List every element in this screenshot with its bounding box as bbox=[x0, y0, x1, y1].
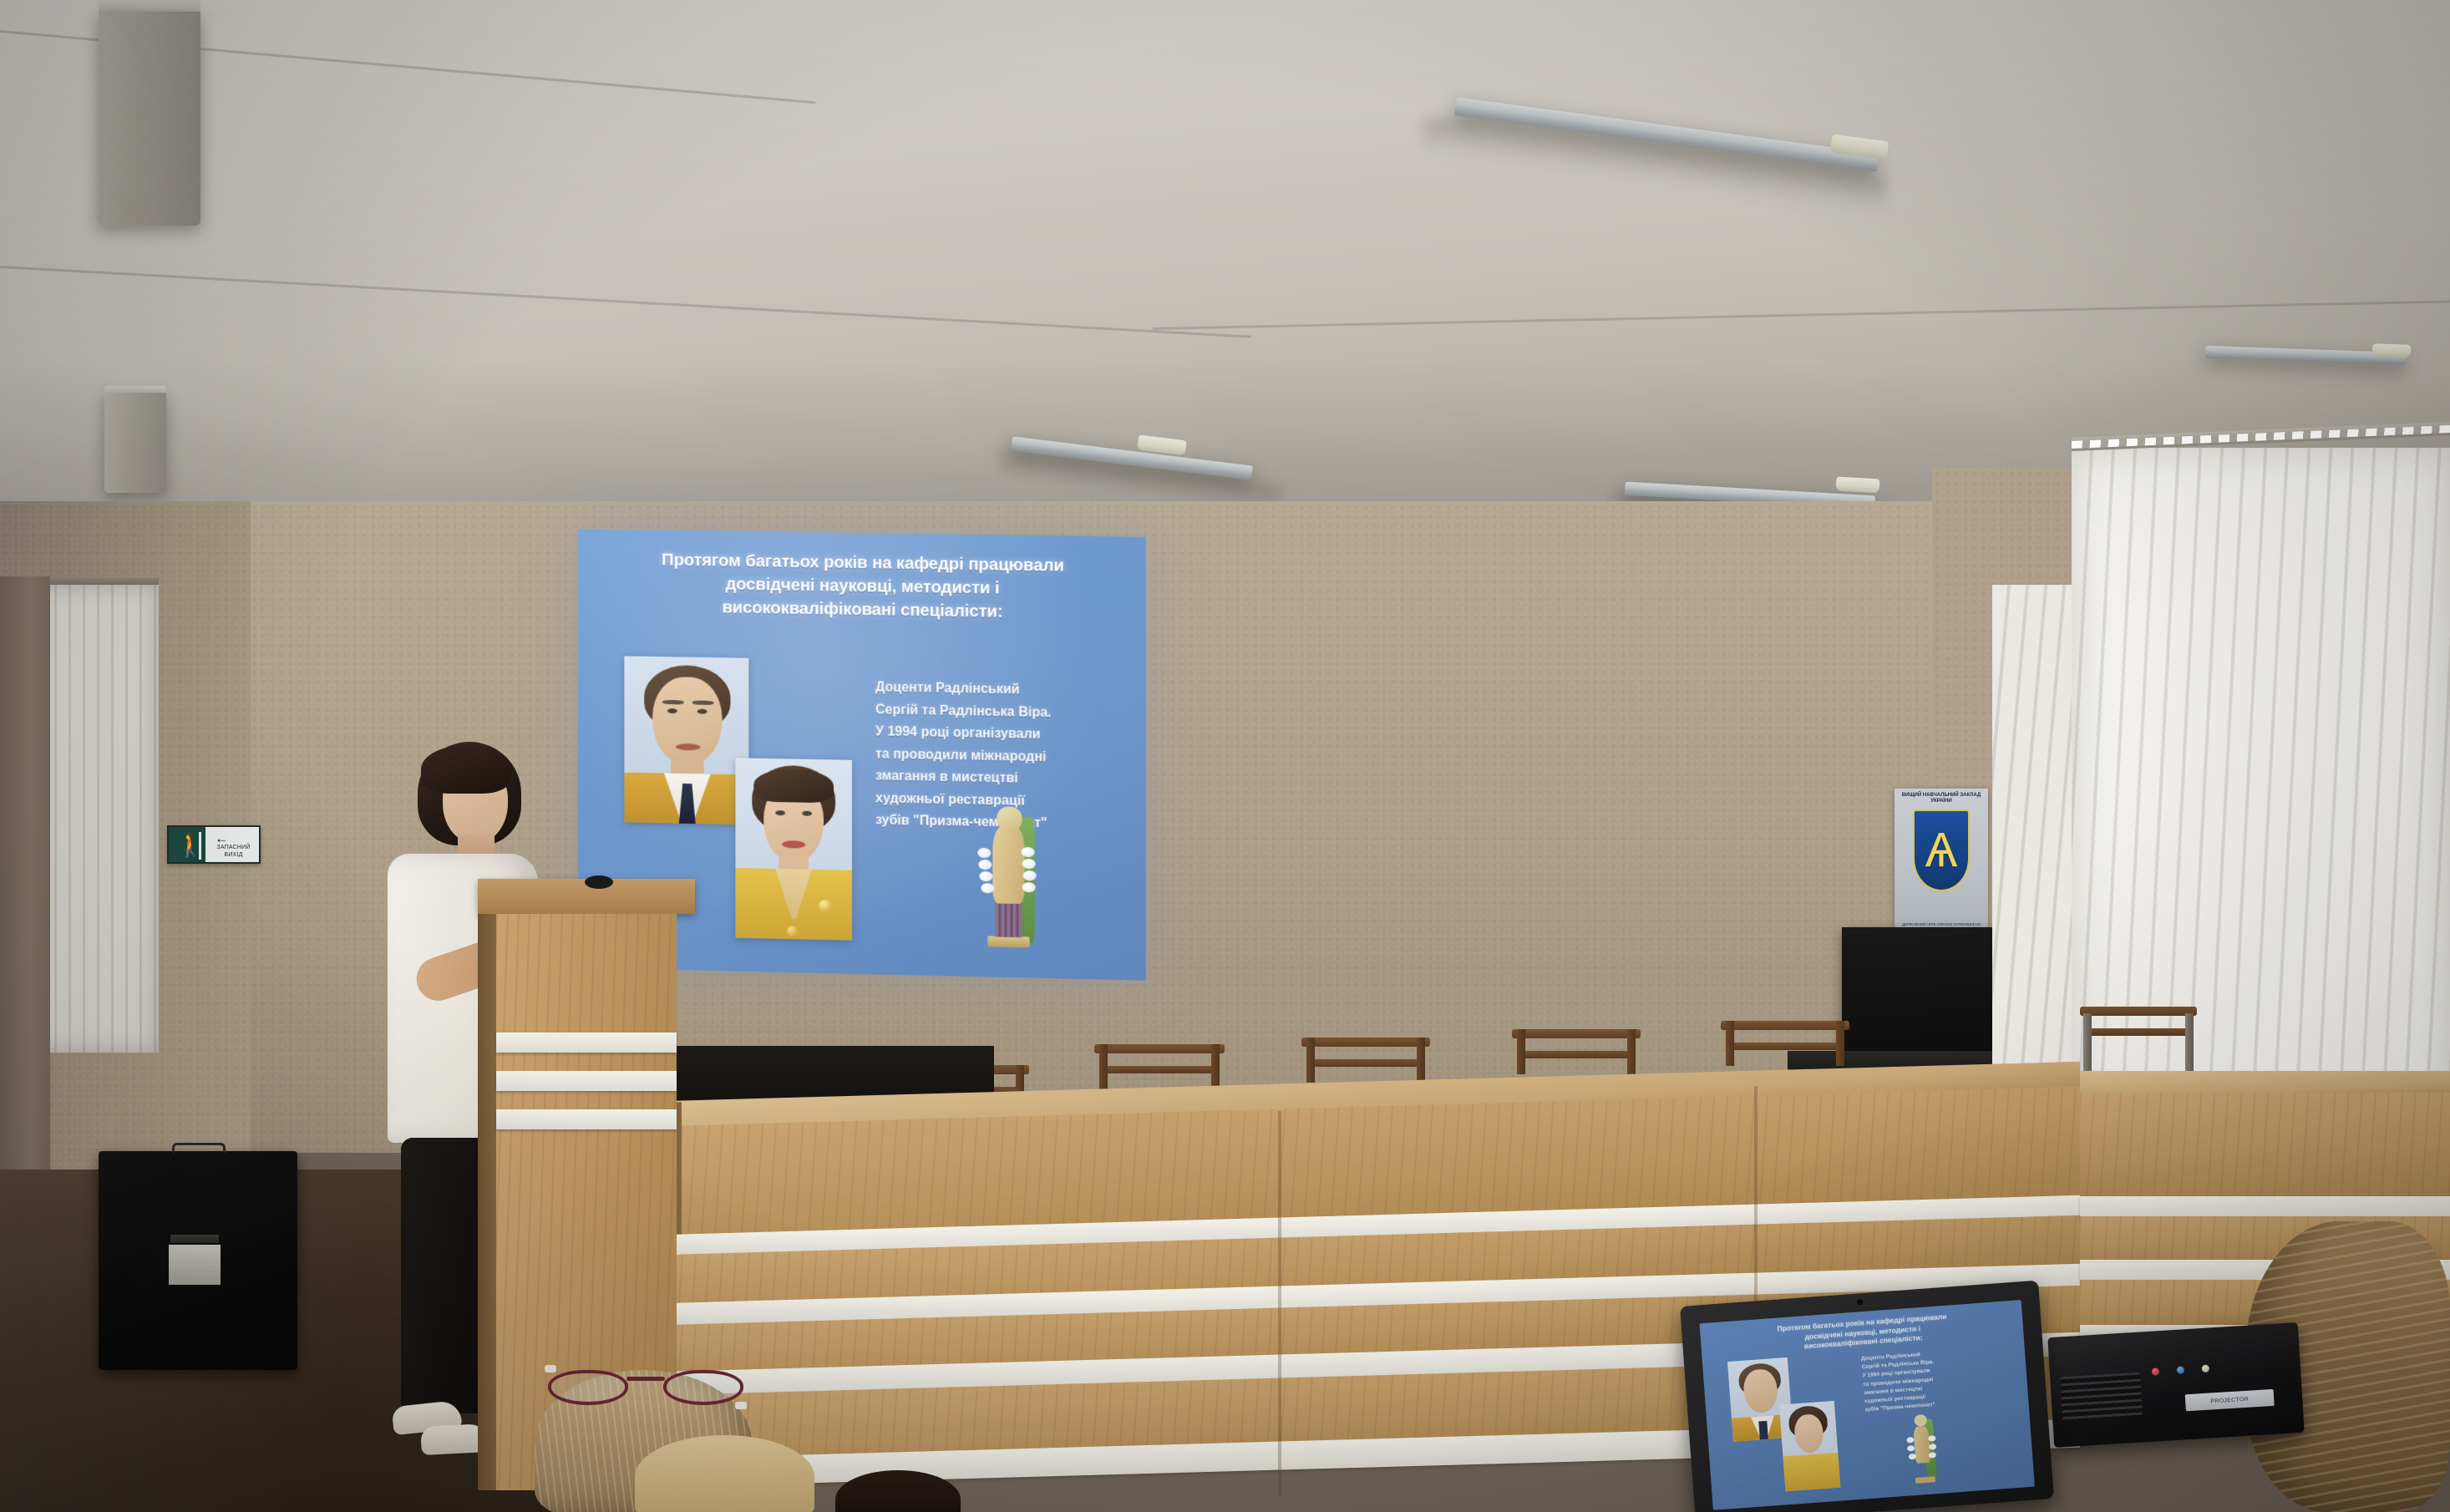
chair-leg bbox=[1099, 1044, 1108, 1089]
portrait-photo-woman bbox=[735, 758, 852, 941]
chair-leg bbox=[1627, 1029, 1636, 1074]
slide-title: Протягом багатьох років на кафедрі працю… bbox=[596, 547, 1131, 626]
desk-seam bbox=[1278, 1111, 1281, 1495]
laptop[interactable]: Протягом багатьох років на кафедрі працю… bbox=[1680, 1281, 2054, 1512]
video-projector: PROJECTOR bbox=[2047, 1322, 2304, 1448]
portrait-eye bbox=[667, 708, 677, 713]
tooth-icon bbox=[1023, 870, 1037, 880]
chair-backrest-mid bbox=[1728, 1043, 1842, 1050]
trophy-body bbox=[992, 826, 1024, 904]
chair-backrest-mid bbox=[2087, 1028, 2189, 1036]
chair-backrest-top bbox=[1721, 1021, 1849, 1030]
portrait-face bbox=[652, 677, 722, 766]
laptop-screen: Протягом багатьох років на кафедрі працю… bbox=[1700, 1300, 2035, 1510]
microphone[interactable] bbox=[585, 875, 613, 889]
case-handle[interactable] bbox=[172, 1143, 226, 1153]
chair-leg bbox=[1726, 1021, 1734, 1066]
chair-backrest-mid bbox=[1102, 1066, 1216, 1073]
portrait-eye bbox=[697, 709, 708, 714]
eyeglasses bbox=[545, 1365, 745, 1417]
ukraine-emblem-plaque: ВИЩИЙ НАВЧАЛЬНИЙ ЗАКЛАД УКРАЇНИ Ѧ ДЕРЖАВ… bbox=[1895, 789, 1988, 936]
exit-label-line2: ВИХІД bbox=[211, 852, 256, 859]
portrait-brooch bbox=[819, 900, 832, 911]
emergency-exit-sign: 🚶 ← ЗАПАСНИЙ ВИХІД bbox=[167, 825, 261, 864]
left-column bbox=[0, 576, 50, 1195]
exit-door-icon bbox=[199, 832, 201, 860]
ceiling-light-cap bbox=[2372, 343, 2412, 358]
chair-leg bbox=[1211, 1044, 1220, 1089]
portrait-brow bbox=[662, 700, 684, 704]
emblem-shield: Ѧ bbox=[1913, 809, 1970, 891]
tooth-icon bbox=[1022, 882, 1036, 892]
chair-leg bbox=[1306, 1038, 1315, 1083]
portrait-eye bbox=[802, 811, 812, 816]
chair-leg bbox=[1417, 1038, 1425, 1083]
portrait-photo-man bbox=[624, 656, 748, 824]
window-blinds-inner[interactable] bbox=[1992, 585, 2084, 1069]
trophy-base bbox=[987, 936, 1029, 947]
podium-stripe bbox=[496, 1109, 677, 1129]
chair-backrest-top bbox=[2080, 1007, 2197, 1016]
case-label bbox=[169, 1245, 221, 1285]
portrait-eye bbox=[775, 810, 785, 815]
trophy-figurine-graphic bbox=[976, 804, 1041, 948]
desk-row bbox=[2080, 1093, 2450, 1201]
podium-stripe bbox=[496, 1033, 677, 1053]
laptop-slide-body: Доценти Радлінський Сергій та Радлінська… bbox=[1861, 1347, 1984, 1415]
chair-backrest-mid bbox=[1309, 1059, 1423, 1067]
portrait-jacket bbox=[1783, 1453, 1840, 1492]
trophy-base bbox=[1915, 1476, 1935, 1484]
chair-leg bbox=[1517, 1029, 1525, 1074]
chair-leg bbox=[1836, 1021, 1844, 1066]
lecture-hall-photo: 🚶 ← ЗАПАСНИЙ ВИХІД Протягом багатьох рок… bbox=[0, 0, 2450, 1512]
tooth-icon bbox=[977, 848, 991, 858]
glasses-bridge bbox=[626, 1377, 665, 1381]
tooth-icon bbox=[1022, 847, 1035, 857]
tooth-icon bbox=[1929, 1444, 1936, 1450]
case-badge bbox=[170, 1235, 219, 1243]
exit-label-line1: ЗАПАСНИЙ bbox=[211, 845, 256, 851]
projector-label: PROJECTOR bbox=[2185, 1389, 2275, 1411]
tooth-icon bbox=[1022, 859, 1036, 869]
ceiling-speaker-box bbox=[99, 12, 200, 226]
presenter-hair-front bbox=[421, 745, 511, 794]
tooth-icon bbox=[978, 860, 992, 870]
ceiling-light-cap bbox=[1836, 477, 1880, 494]
desk-white-strip bbox=[2080, 1196, 2450, 1218]
equipment-case bbox=[99, 1151, 297, 1370]
glasses-temple-tip bbox=[735, 1402, 747, 1409]
projector-lamp-led bbox=[2202, 1365, 2210, 1373]
chair-backrest-mid bbox=[1519, 1051, 1633, 1058]
emblem-header-text: ВИЩИЙ НАВЧАЛЬНИЙ ЗАКЛАД УКРАЇНИ bbox=[1899, 793, 1984, 804]
glasses-temple-tip bbox=[545, 1365, 556, 1372]
running-person-icon: 🚶 bbox=[176, 833, 193, 860]
tooth-icon bbox=[1928, 1435, 1935, 1442]
glasses-lens bbox=[663, 1370, 743, 1405]
chair-backrest-top bbox=[1094, 1044, 1225, 1053]
arrow-left-icon: ← bbox=[215, 831, 229, 845]
trophy-head bbox=[997, 806, 1022, 830]
portrait-tie bbox=[1758, 1421, 1768, 1440]
exit-green-panel: 🚶 bbox=[169, 827, 205, 862]
laptop-trophy-graphic bbox=[1904, 1413, 1940, 1484]
portrait-fringe bbox=[753, 769, 834, 804]
chair-backrest-top bbox=[1301, 1038, 1430, 1047]
portrait-brow bbox=[692, 701, 714, 705]
projector-power-led bbox=[2152, 1367, 2160, 1376]
tooth-icon bbox=[1906, 1437, 1914, 1444]
tooth-icon bbox=[979, 871, 992, 881]
podium-side bbox=[478, 914, 498, 1490]
exit-text-panel: ← ЗАПАСНИЙ ВИХІД bbox=[205, 827, 259, 862]
podium-stripe bbox=[496, 1071, 677, 1091]
projector-status-led bbox=[2177, 1366, 2185, 1374]
tooth-icon bbox=[1907, 1445, 1915, 1452]
audience-head-blonde-lower bbox=[635, 1435, 814, 1512]
tooth-icon bbox=[981, 883, 994, 893]
projector-vents bbox=[2060, 1372, 2143, 1424]
chair-backrest-top bbox=[1512, 1029, 1641, 1038]
laptop-portrait-woman bbox=[1779, 1401, 1840, 1492]
portrait-button bbox=[787, 926, 798, 936]
glasses-lens bbox=[548, 1370, 628, 1405]
trident-icon: Ѧ bbox=[1925, 826, 1958, 875]
ceiling-speaker-box bbox=[104, 393, 166, 493]
